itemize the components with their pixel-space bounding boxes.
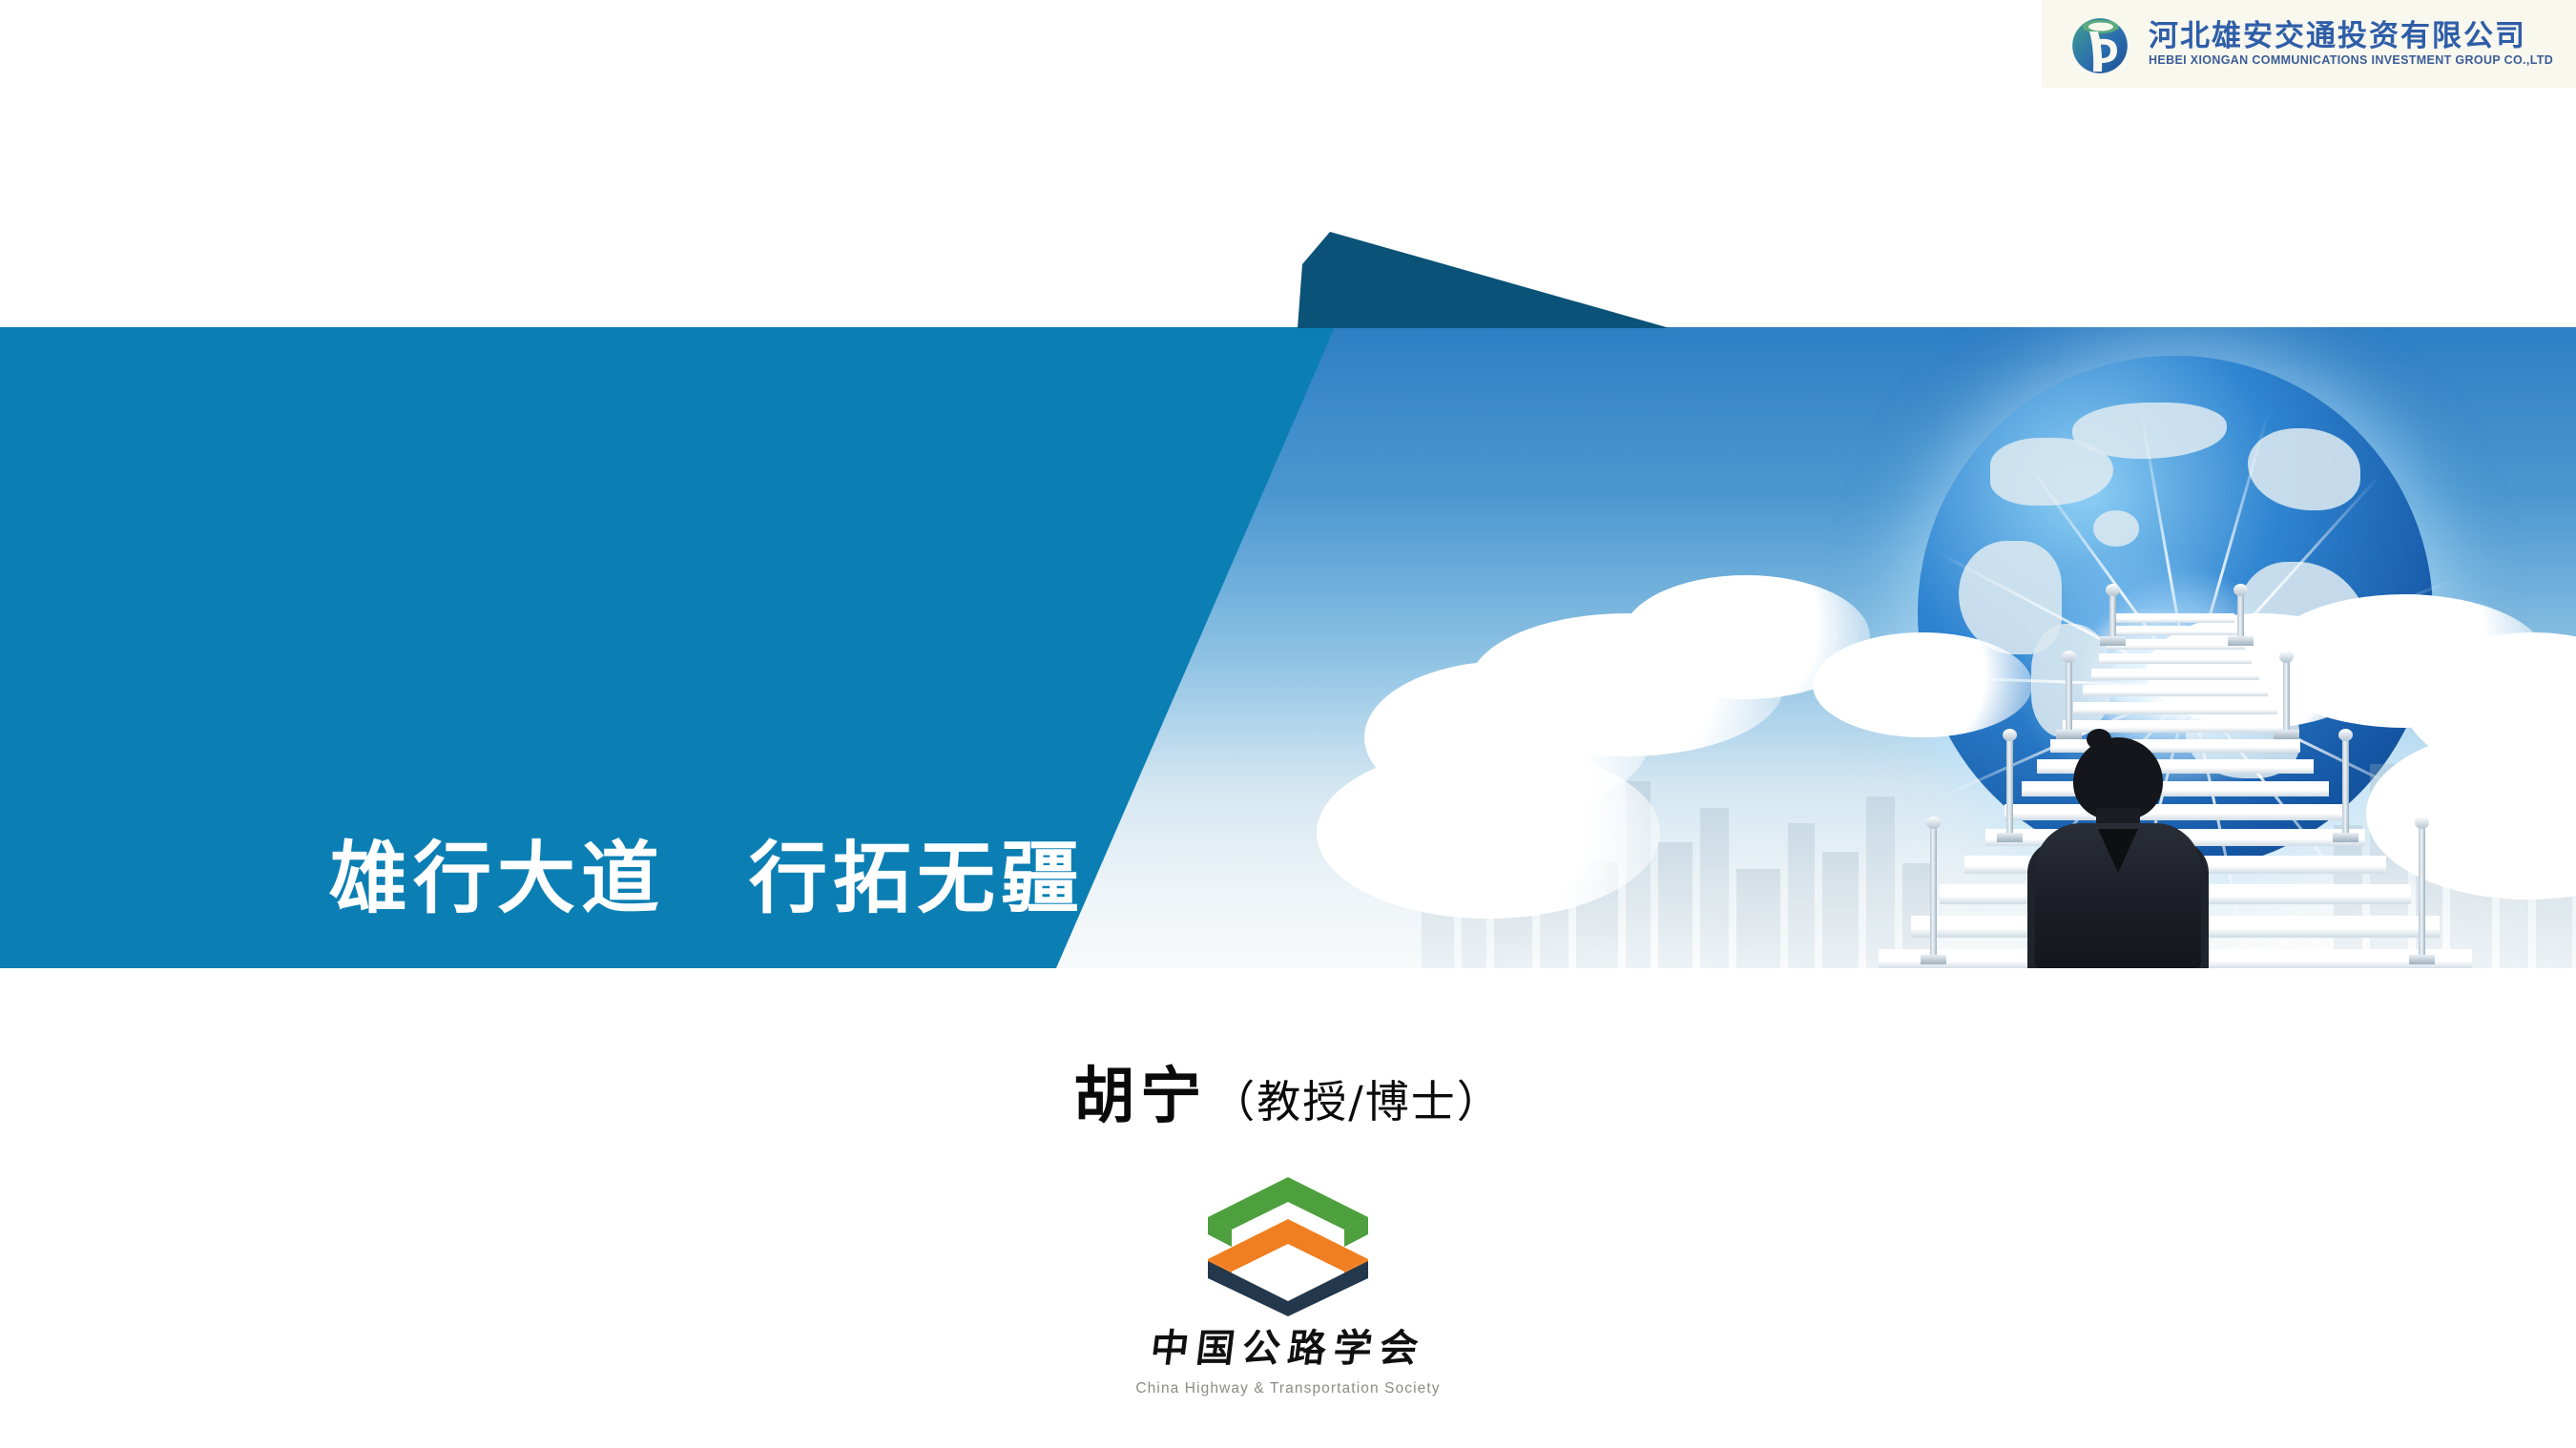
hero-accent-wedge — [1298, 232, 1670, 328]
society-name-cn: 中国公路学会 — [1149, 1330, 1428, 1368]
globe-emblem-icon — [2065, 10, 2135, 77]
clouds-icon — [1317, 747, 1660, 919]
presenter-name: 胡宁 — [1073, 1047, 1207, 1135]
society-name-en: China Highway & Transportation Society — [1135, 1381, 1440, 1396]
corporate-name-cn: 河北雄安交通投资有限公司 — [2149, 22, 2553, 52]
corporate-logo: 河北雄安交通投资有限公司 HEBEI XIONGAN COMMUNICATION… — [2042, 0, 2576, 88]
presenter-title: （教授/博士） — [1211, 1067, 1503, 1130]
hero-banner: 雄行大道 行拓无疆 ——雄安交投企业文化品牌解读与落地实施 — [0, 327, 2576, 968]
presenter-line: 胡宁 （教授/博士） — [0, 1047, 2576, 1135]
society-logo: 中国公路学会 China Highway & Transportation So… — [0, 1175, 2576, 1396]
corporate-name-en: HEBEI XIONGAN COMMUNICATIONS INVESTMENT … — [2149, 54, 2553, 67]
corporate-wordmark: 河北雄安交通投资有限公司 HEBEI XIONGAN COMMUNICATION… — [2149, 22, 2553, 67]
page-title: 雄行大道 行拓无疆 — [329, 838, 1085, 922]
man-silhouette-icon — [2027, 737, 2209, 968]
hexagon-cube-icon — [1204, 1175, 1372, 1318]
